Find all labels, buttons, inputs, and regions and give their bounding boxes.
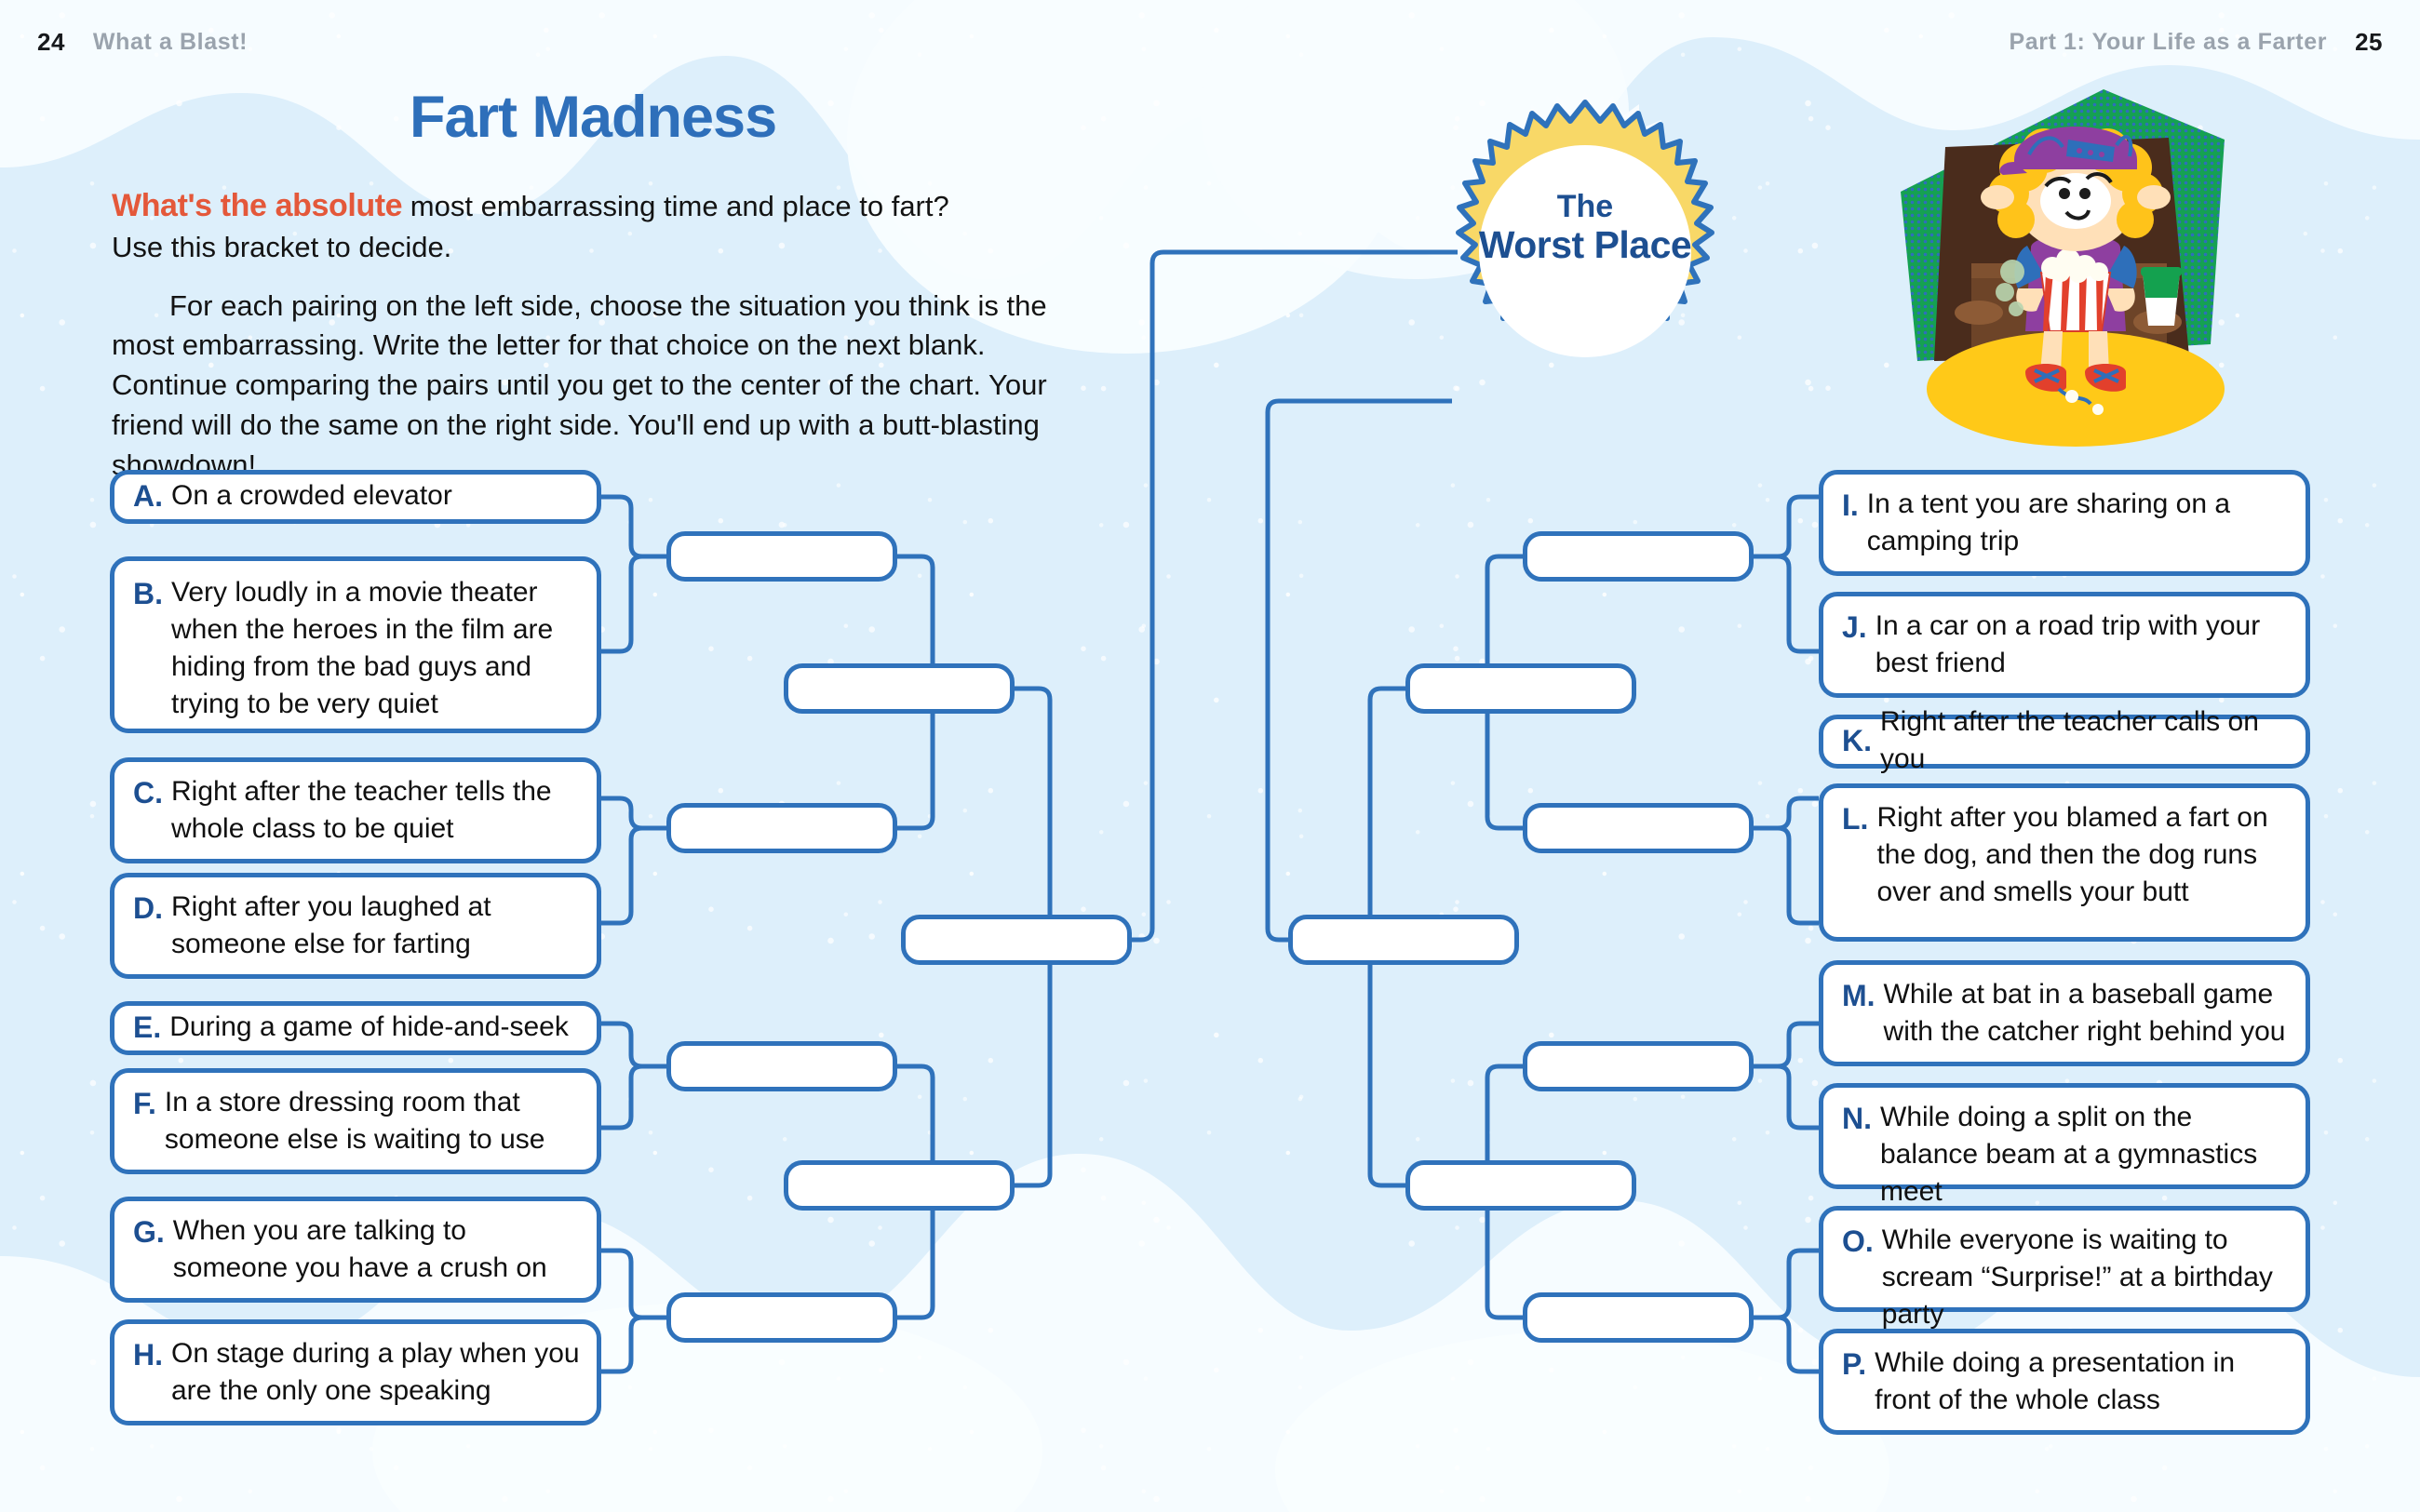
option-box-j[interactable]: J. In a car on a road trip with your bes… [1819,592,2310,698]
blank-right-round2-4[interactable] [1523,1292,1754,1343]
option-box-f[interactable]: F. In a store dressing room that someone… [110,1068,601,1174]
award-line-1: The [1422,189,1748,224]
option-letter: D. [133,889,163,929]
option-text: While everyone is waiting to scream “Sur… [1882,1222,2291,1333]
option-letter: M. [1842,976,1875,1016]
option-letter: F. [133,1084,156,1124]
illustration-kid-eating-popcorn [1889,82,2252,454]
option-letter: L. [1842,799,1868,839]
option-letter: P. [1842,1345,1866,1385]
option-box-a[interactable]: A. On a crowded elevator [110,470,601,524]
option-box-g[interactable]: G. When you are talking to someone you h… [110,1197,601,1303]
blank-left-round4-final[interactable] [901,915,1132,965]
option-box-h[interactable]: H. On stage during a play when you are t… [110,1319,601,1425]
blank-left-round2-1[interactable] [666,531,897,582]
option-letter: C. [133,773,163,813]
option-letter: N. [1842,1099,1872,1139]
worksheet-page: 24 What a Blast! Part 1: Your Life as a … [0,0,2420,1512]
blank-right-round2-2[interactable] [1523,803,1754,853]
option-text: On a crowded elevator [171,477,452,515]
blank-left-round2-3[interactable] [666,1041,897,1091]
blank-left-round3-1[interactable] [784,663,1015,714]
option-text: While doing a presentation in front of t… [1875,1345,2291,1419]
option-letter: G. [133,1212,165,1252]
option-letter: A. [133,476,163,516]
option-letter: J. [1842,608,1867,648]
option-letter: B. [133,574,163,614]
movie-theater-kid-icon [1889,82,2252,454]
option-text: Right after the teacher calls on you [1880,703,2291,778]
option-letter: K. [1842,721,1872,761]
option-box-m[interactable]: M. While at bat in a baseball game with … [1819,960,2310,1066]
option-text: In a store dressing room that someone el… [165,1084,582,1158]
blank-right-round2-3[interactable] [1523,1041,1754,1091]
blank-right-round4-final[interactable] [1288,915,1519,965]
option-text: In a car on a road trip with your best f… [1875,608,2291,682]
blank-left-round2-4[interactable] [666,1292,897,1343]
option-box-o[interactable]: O. While everyone is waiting to scream “… [1819,1206,2310,1312]
option-letter: I. [1842,486,1859,526]
option-text: Right after you blamed a fart on the dog… [1876,799,2291,911]
option-text: In a tent you are sharing on a camping t… [1867,486,2291,560]
option-text: When you are talking to someone you have… [173,1212,582,1287]
blank-left-round2-2[interactable] [666,803,897,853]
option-text: While at bat in a baseball game with the… [1884,976,2291,1050]
blank-right-round3-1[interactable] [1405,663,1636,714]
blank-right-round3-2[interactable] [1405,1160,1636,1211]
option-text: During a game of hide-and-seek [169,1009,569,1046]
option-text: Right after you laughed at someone else … [171,889,582,963]
option-letter: E. [133,1008,161,1048]
award-line-2: Worst Place [1422,224,1748,267]
option-box-k[interactable]: K. Right after the teacher calls on you [1819,715,2310,769]
option-text: On stage during a play when you are the … [171,1335,582,1410]
option-letter: O. [1842,1222,1874,1262]
option-letter: H. [133,1335,163,1375]
option-text: While doing a split on the balance beam … [1880,1099,2291,1211]
option-text: Right after the teacher tells the whole … [171,773,582,848]
option-box-p[interactable]: P. While doing a presentation in front o… [1819,1329,2310,1435]
worst-place-award-badge: The Worst Place [1422,88,1748,414]
option-box-c[interactable]: C. Right after the teacher tells the who… [110,757,601,863]
option-box-n[interactable]: N. While doing a split on the balance be… [1819,1083,2310,1189]
blank-right-round2-1[interactable] [1523,531,1754,582]
option-box-d[interactable]: D. Right after you laughed at someone el… [110,873,601,979]
option-text: Very loudly in a movie theater when the … [171,574,582,723]
option-box-i[interactable]: I. In a tent you are sharing on a campin… [1819,470,2310,576]
option-box-l[interactable]: L. Right after you blamed a fart on the … [1819,783,2310,942]
blank-left-round3-2[interactable] [784,1160,1015,1211]
option-box-b[interactable]: B. Very loudly in a movie theater when t… [110,556,601,733]
award-text-block: The Worst Place [1422,189,1748,267]
option-box-e[interactable]: E. During a game of hide-and-seek [110,1001,601,1055]
